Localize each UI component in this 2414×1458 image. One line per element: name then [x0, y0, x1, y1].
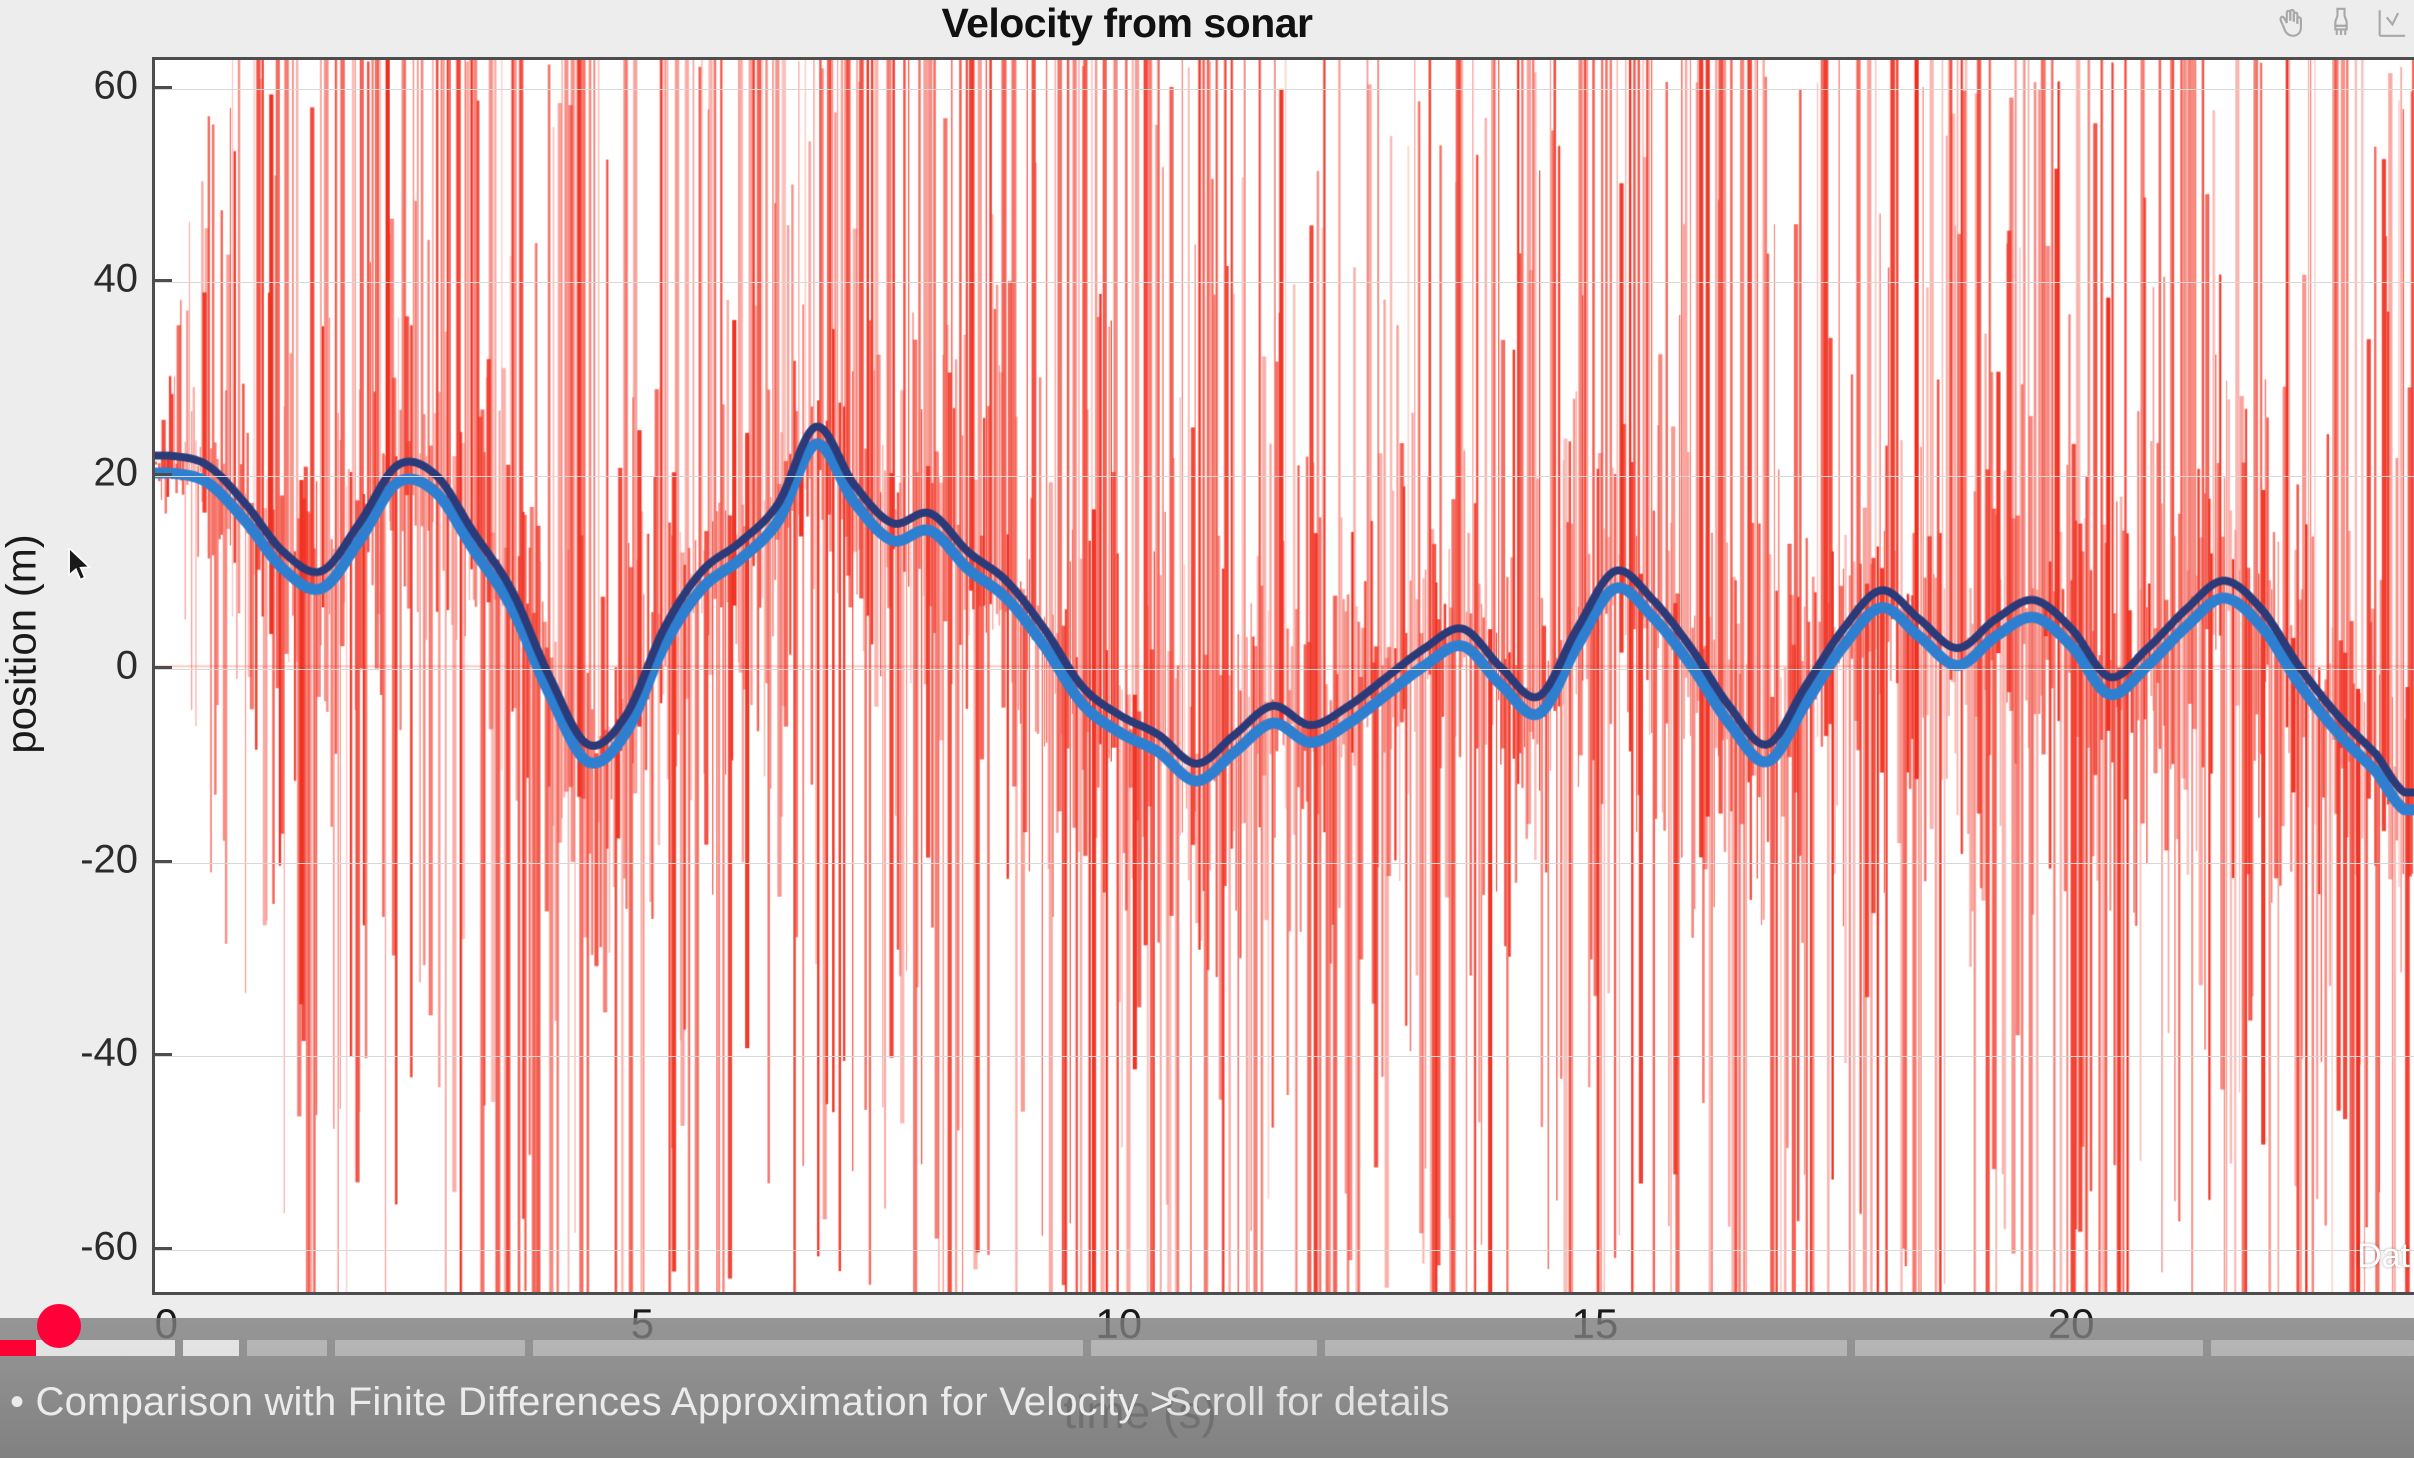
- plot-canvas: [155, 60, 2414, 1292]
- video-progress-bar[interactable]: [0, 1340, 2414, 1356]
- scroll-for-details-hint: Scroll for details: [1165, 1380, 1450, 1425]
- y-tick-label: 40: [0, 257, 138, 302]
- figure-toolbar[interactable]: [2274, 6, 2408, 46]
- page-title: Velocity from sonar: [0, 0, 2334, 47]
- progress-chapter-segment[interactable]: [533, 1340, 1083, 1356]
- played-fill: [0, 1340, 36, 1356]
- y-tick-label: -40: [0, 1031, 138, 1076]
- mouse-cursor-icon: [68, 548, 94, 582]
- progress-chapter-segment[interactable]: [1091, 1340, 1317, 1356]
- y-tick-mark: [152, 860, 172, 863]
- buffered-fill: [183, 1340, 239, 1356]
- progress-chapter-segment[interactable]: [247, 1340, 327, 1356]
- data-cursor-icon[interactable]: [2374, 6, 2408, 46]
- plot-axes: Dat: [152, 57, 2414, 1295]
- y-tick-mark: [152, 666, 172, 669]
- progress-chapter-segment[interactable]: [2211, 1340, 2414, 1356]
- progress-chapter-segment[interactable]: [335, 1340, 525, 1356]
- y-tick-mark: [152, 279, 172, 282]
- progress-chapter-segment[interactable]: [183, 1340, 239, 1356]
- progress-scrubber-handle[interactable]: [37, 1304, 81, 1348]
- progress-chapter-segment[interactable]: [1325, 1340, 1847, 1356]
- video-player-frame: Velocity from sonar: [0, 0, 2414, 1458]
- brush-icon[interactable]: [2324, 6, 2358, 46]
- y-tick-mark: [152, 1247, 172, 1250]
- data-tip-label: Dat: [2357, 1237, 2410, 1276]
- y-tick-mark: [152, 86, 172, 89]
- y-tick-label: -20: [0, 837, 138, 882]
- y-tick-label: -60: [0, 1224, 138, 1269]
- video-player-controls: • Comparison with Finite Differences App…: [0, 1318, 2414, 1458]
- matlab-figure-window: Velocity from sonar: [0, 0, 2414, 1340]
- y-tick-mark: [152, 473, 172, 476]
- chapter-title-label[interactable]: • Comparison with Finite Differences App…: [10, 1380, 1173, 1425]
- pan-hand-icon[interactable]: [2274, 6, 2308, 46]
- progress-chapter-segment[interactable]: [1855, 1340, 2203, 1356]
- y-axis-label: position (m): [0, 534, 46, 753]
- y-tick-label: 20: [0, 450, 138, 495]
- y-tick-mark: [152, 1053, 172, 1056]
- y-tick-label: 60: [0, 64, 138, 109]
- progress-chapter-segment[interactable]: [0, 1340, 175, 1356]
